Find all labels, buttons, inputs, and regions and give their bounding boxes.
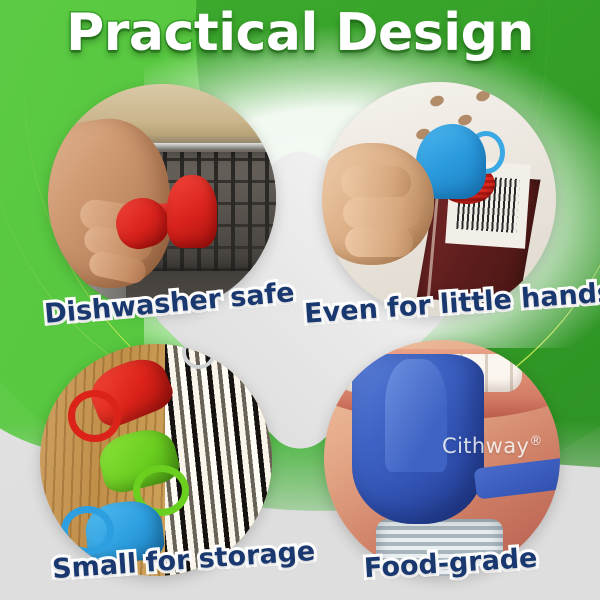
red-spout-back bbox=[167, 175, 217, 248]
feature-photo-food-grade: Cithway® bbox=[324, 340, 560, 576]
brand-watermark-text: Cithway bbox=[442, 434, 529, 458]
brand-watermark: Cithway® bbox=[442, 434, 543, 458]
bib-pattern-dot bbox=[475, 89, 492, 103]
registered-trademark-icon: ® bbox=[529, 434, 542, 449]
child-hand-knuckle bbox=[343, 197, 420, 230]
red-spout-loop bbox=[68, 390, 121, 441]
product-feature-poster: Practical Design bbox=[0, 0, 600, 600]
feature-photo-little-hands bbox=[322, 82, 556, 316]
little-hands-scene bbox=[322, 82, 556, 316]
dishwasher-scene bbox=[48, 84, 276, 312]
poster-title-area: Practical Design bbox=[0, 6, 600, 61]
bib-pattern-dot bbox=[428, 94, 445, 108]
poster-title: Practical Design bbox=[66, 6, 534, 61]
food-grade-scene: Cithway® bbox=[324, 340, 560, 576]
blue-spout-strap bbox=[474, 457, 560, 499]
feature-photo-dishwasher bbox=[48, 84, 276, 312]
blue-spout-stem bbox=[385, 359, 446, 472]
child-hand-knuckle bbox=[341, 166, 411, 199]
child-hand-knuckle bbox=[345, 227, 413, 257]
